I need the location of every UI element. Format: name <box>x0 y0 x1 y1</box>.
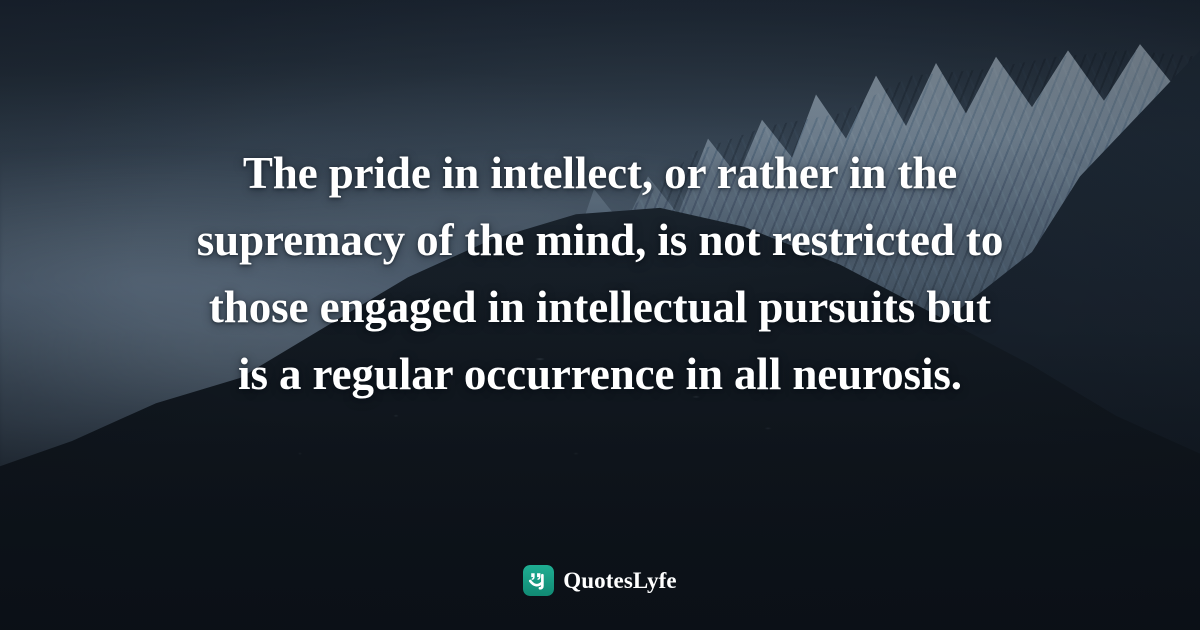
quote-text: The pride in intellect, or rather in the… <box>190 140 1010 408</box>
quote-image-card: The pride in intellect, or rather in the… <box>0 0 1200 630</box>
brand-name: QuotesLyfe <box>563 569 676 592</box>
quote-smiley-icon <box>523 565 554 596</box>
brand-lockup[interactable]: QuotesLyfe <box>0 565 1200 596</box>
card-content: The pride in intellect, or rather in the… <box>0 0 1200 630</box>
